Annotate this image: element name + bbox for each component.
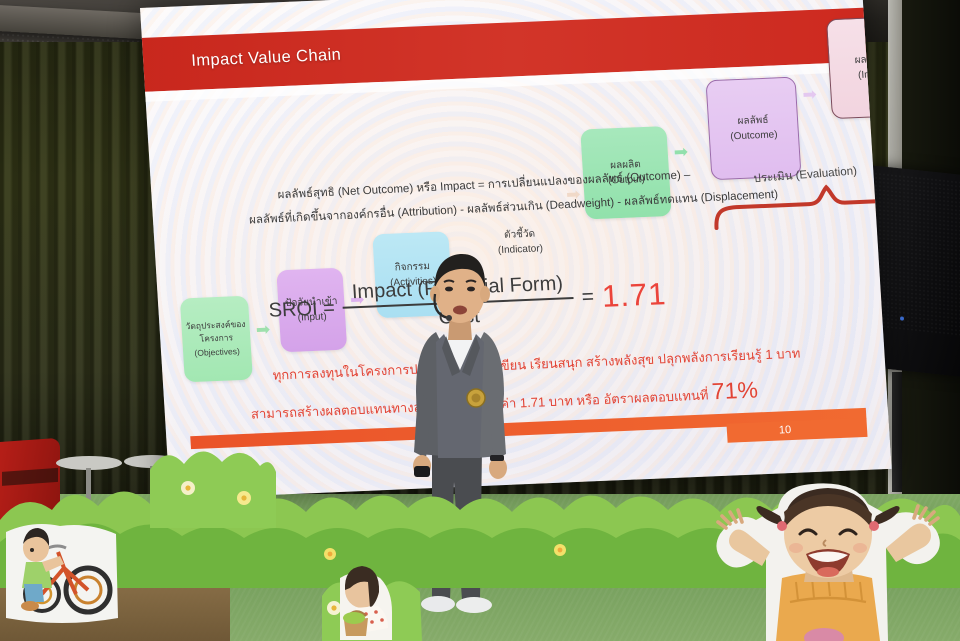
sroi-value: 1.71 — [601, 276, 667, 315]
presenter — [392, 252, 528, 641]
table-leg-1 — [86, 468, 91, 514]
chain-box-objectives: วัตถุประสงค์ของโครงการ (Objectives) — [180, 296, 253, 383]
speaker-led-icon — [900, 316, 904, 320]
chain-box-objectives-en: (Objectives) — [194, 345, 240, 360]
speaker-stand — [892, 372, 902, 492]
chain-arrow-1-icon: ➡ — [255, 321, 270, 339]
stage-scene: Impact Value Chain วัตถุประสงค์ของโครงกา… — [0, 0, 960, 641]
chain-box-objectives-th: วัตถุประสงค์ของโครงการ — [181, 318, 251, 347]
chain-arrow-5-icon: ➡ — [673, 143, 688, 161]
chain-box-outcome: ผลลัพธ์ (Outcome) — [705, 77, 801, 181]
chain-arrow-6-icon: ➡ — [802, 86, 817, 104]
table-leg-2 — [150, 466, 155, 510]
chain-box-outcome-th: ผลลัพธ์ — [737, 112, 769, 129]
conclusion-highlight: 71% — [711, 376, 759, 404]
red-chair — [0, 438, 60, 532]
chain-box-indicator-th: ตัวชี้วัด — [504, 226, 536, 243]
sroi-label: SROI = — [268, 297, 335, 323]
sroi-equals-sign: = — [581, 285, 595, 309]
chain-box-outcome-en: (Outcome) — [730, 127, 778, 144]
wooden-floor-strip — [0, 580, 230, 641]
page-number: 10 — [779, 424, 792, 436]
